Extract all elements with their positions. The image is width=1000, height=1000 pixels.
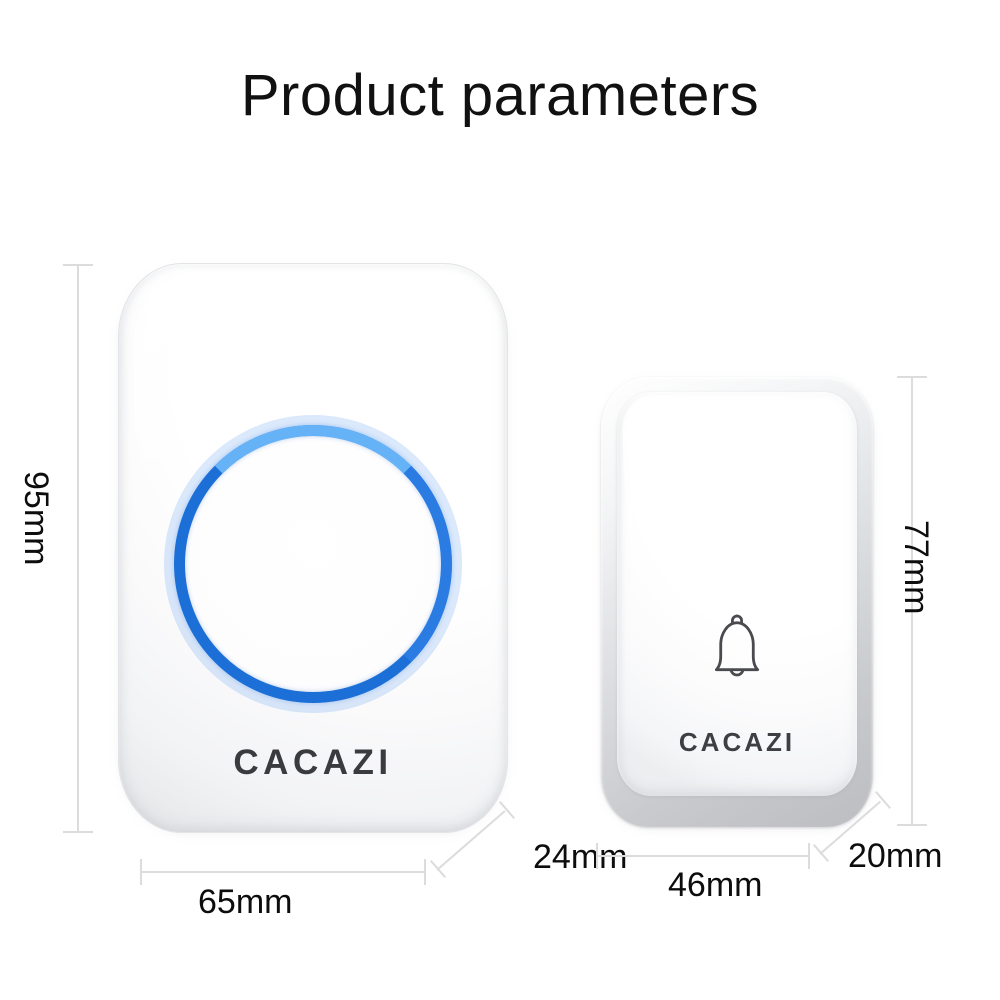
receiver-height-line — [77, 264, 79, 832]
product-parameters-image: Product parameters CACAZI — [0, 0, 1000, 1000]
receiver-brand-label: CACAZI — [118, 743, 508, 783]
transmitter-depth-cap-far — [875, 791, 891, 809]
page-title: Product parameters — [0, 62, 1000, 129]
transmitter-width-cap-right — [808, 843, 810, 869]
transmitter-brand-label: CACAZI — [601, 727, 873, 758]
transmitter-height-cap-bottom — [897, 824, 927, 826]
receiver-width-label: 65mm — [198, 883, 292, 922]
receiver-width-cap-right — [424, 859, 426, 885]
doorbell-receiver: CACAZI — [118, 263, 508, 833]
receiver-width-line — [140, 871, 425, 873]
transmitter-depth-label: 20mm — [848, 837, 942, 876]
transmitter-height-label: 77mm — [896, 520, 935, 614]
bell-icon — [693, 605, 781, 693]
blue-led-ring-icon — [174, 425, 452, 703]
transmitter-width-line — [596, 855, 809, 857]
receiver-depth-label: 24mm — [533, 838, 627, 877]
doorbell-push-button: CACAZI — [601, 377, 873, 827]
receiver-height-cap-bottom — [63, 831, 93, 833]
receiver-height-label: 95mm — [16, 471, 55, 565]
transmitter-width-label: 46mm — [668, 866, 762, 905]
